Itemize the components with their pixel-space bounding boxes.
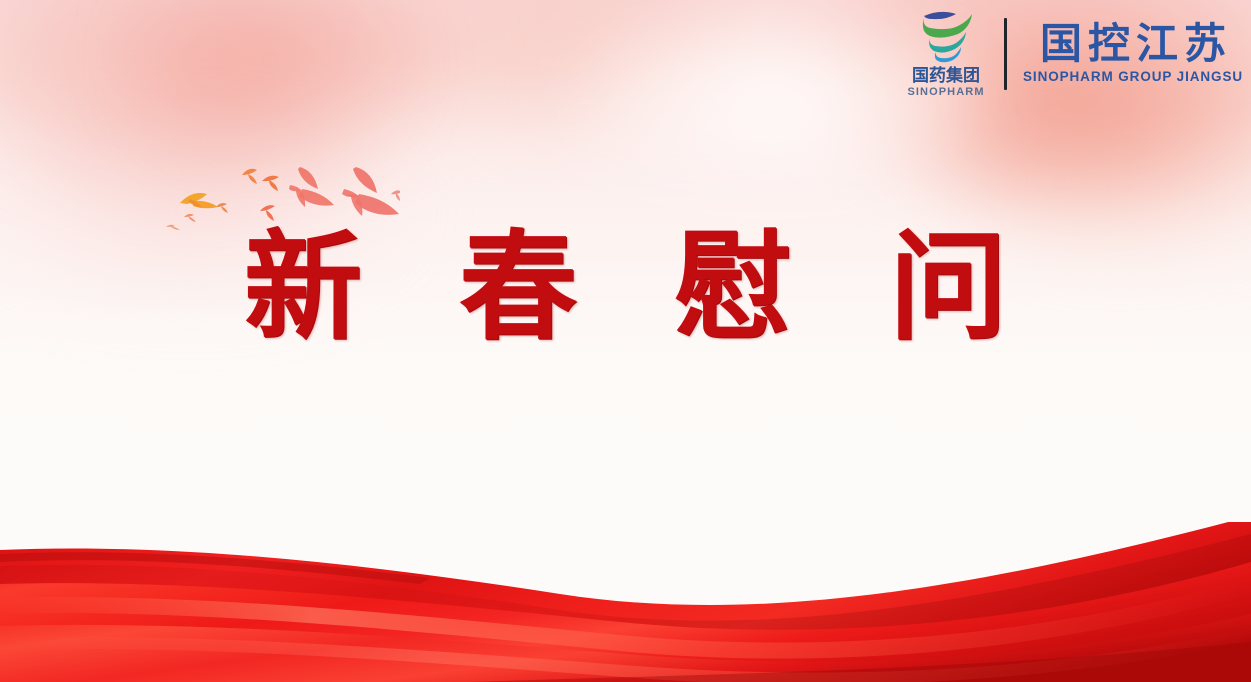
jiangsu-brand-logo: 国控江苏 SINOPHARM GROUP JIANGSU [1023, 22, 1243, 85]
birds-flock-icon [150, 155, 400, 255]
sinopharm-ribbon-mark-icon [910, 10, 982, 66]
logo-lockup: 国药集团 SINOPHARM 国控江苏 SINOPHARM GROUP JIAN… [898, 6, 1243, 102]
sinopharm-group-cn-label: 国药集团 [912, 68, 980, 86]
sinopharm-group-logo: 国药集团 SINOPHARM [898, 10, 994, 99]
red-silk-ribbon [0, 522, 1251, 682]
brand-cn-label: 国控江苏 [1034, 22, 1232, 66]
logo-divider [1004, 18, 1007, 90]
sinopharm-group-en-label: SINOPHARM [907, 86, 984, 98]
brand-en-label: SINOPHARM GROUP JIANGSU [1023, 69, 1243, 85]
new-year-greeting-banner: 新 春 慰 问 国药集团 SINOPHARM 国控江苏 [0, 0, 1251, 682]
